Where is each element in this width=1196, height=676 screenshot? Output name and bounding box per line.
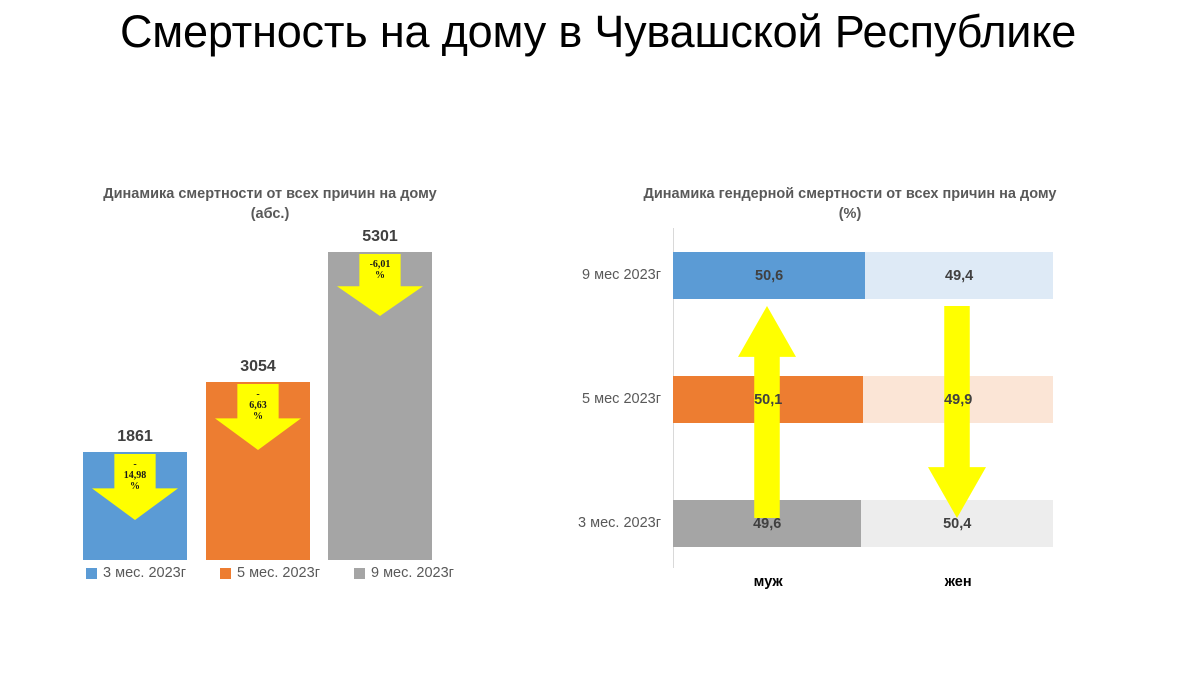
legend-label-9mes: 9 мес. 2023г [371,565,454,581]
column-value-5mes: 3054 [206,358,310,376]
column-delta-3mes: - 14,98 % [124,459,147,492]
chart-gender-mortality: Динамика гендерной смертности от всех пр… [540,170,1160,620]
row-label-9mes: 9 мес 2023г [582,252,673,299]
legend-label-3mes: 3 мес. 2023г [103,565,186,581]
column-delta-5mes: - 6,63 % [249,389,267,422]
legend-item-5mes[interactable]: 5 мес. 2023г [220,565,320,581]
category-label-male: муж [673,574,863,590]
category-label-female: жен [863,574,1053,590]
bar-value-female-9mes: 49,4 [945,268,973,284]
chart-absolute-deaths: Динамика смертности от всех причин на до… [20,170,520,610]
stacked-row-5mes[interactable]: 5 мес 2023г [673,376,1053,423]
legend-label-5mes: 5 мес. 2023г [237,565,320,581]
column-9mes[interactable]: 5301 -6,01 % [328,252,432,560]
bar-value-male-9mes: 50,6 [755,268,783,284]
legend-swatch-blue [86,568,97,579]
chart-left-plot-area: 1861 - 14,98 % 3054 - 6,63 % 5301 -6,0 [20,230,520,560]
chart-left-title-line1: Динамика смертности от всех причин на до… [20,184,520,204]
column-value-9mes: 5301 [328,228,432,246]
page-title: Смертность на дому в Чувашской Республик… [0,2,1196,62]
stacked-row-9mes[interactable]: 9 мес 2023г 50,6 49,4 [673,252,1053,299]
column-delta-9mes: -6,01 % [370,259,391,281]
legend-swatch-gray [354,568,365,579]
chart-right-title: Динамика гендерной смертности от всех пр… [540,184,1160,224]
legend-item-9mes[interactable]: 9 мес. 2023г [354,565,454,581]
chart-right-title-line2: (%) [540,204,1160,224]
bar-segment-female-9mes: 49,4 [865,252,1053,299]
bar-value-female-3mes: 50,4 [943,516,971,532]
stacked-row-3mes[interactable]: 3 мес. 2023г 49,6 50,4 [673,500,1053,547]
chart-left-title: Динамика смертности от всех причин на до… [20,184,520,224]
chart-left-legend: 3 мес. 2023г 5 мес. 2023г 9 мес. 2023г [20,565,520,581]
chart-left-title-line2: (абс.) [20,204,520,224]
legend-swatch-orange [220,568,231,579]
column-3mes[interactable]: 1861 - 14,98 % [83,452,187,560]
row-label-3mes: 3 мес. 2023г [578,500,673,547]
row-label-5mes: 5 мес 2023г [582,376,673,423]
chart-right-title-line1: Динамика гендерной смертности от всех пр… [540,184,1160,204]
chart-right-plot-area: 9 мес 2023г 50,6 49,4 5 мес 2023г 3 мес.… [673,228,1053,568]
column-5mes[interactable]: 3054 - 6,63 % [206,382,310,560]
legend-item-3mes[interactable]: 3 мес. 2023г [86,565,186,581]
column-value-3mes: 1861 [83,428,187,446]
bar-segment-male-9mes: 50,6 [673,252,865,299]
slide-canvas: Смертность на дому в Чувашской Республик… [0,0,1196,676]
